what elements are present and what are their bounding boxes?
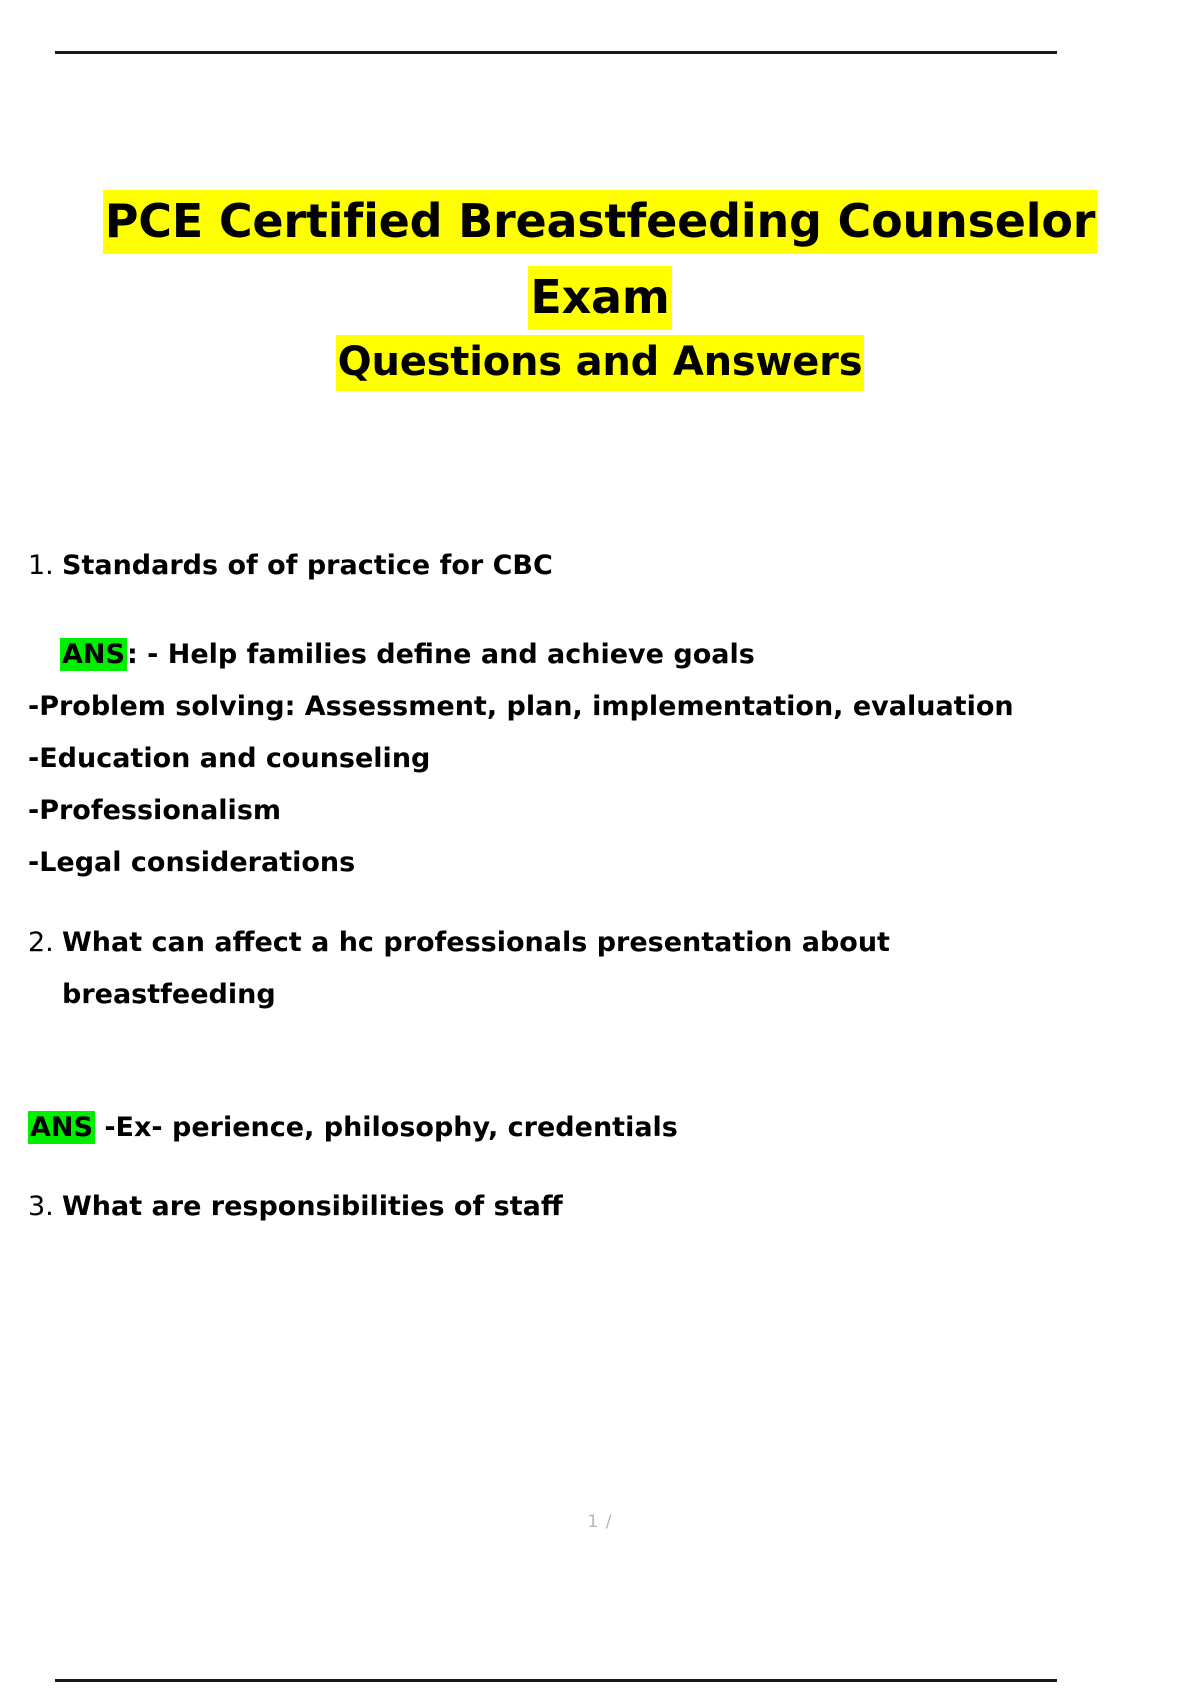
title-line-1-text: PCE Certified Breastfeeding Counselor (103, 190, 1097, 254)
question-3-number: 3. (28, 1193, 62, 1220)
question-2-number: 2. (28, 929, 62, 956)
answer-2-text: -Ex- perience, philosophy, credentials (95, 1112, 678, 1143)
question-2-text-line-1: What can affect a hc professionals prese… (62, 929, 890, 956)
answer-1-label: ANS (60, 638, 127, 671)
bullet-item: -Problem solving: Assessment, plan, impl… (28, 693, 1118, 720)
answer-1-text: : - Help families define and achieve goa… (127, 639, 755, 670)
title-line-1: PCE Certified Breastfeeding Counselor (0, 198, 1200, 244)
title-line-3: Questions and Answers (0, 342, 1200, 382)
question-1-number: 1. (28, 552, 62, 579)
answer-1-bullets: -Problem solving: Assessment, plan, impl… (28, 693, 1118, 876)
question-2: 2. What can affect a hc professionals pr… (28, 929, 1118, 956)
title-line-2-text: Exam (528, 266, 671, 330)
spacer (28, 876, 1118, 929)
question-1-text: Standards of of practice for CBC (62, 552, 553, 579)
answer-1: ANS: - Help families define and achieve … (28, 641, 1118, 668)
document-title-block: PCE Certified Breastfeeding Counselor Ex… (0, 198, 1200, 382)
title-line-2: Exam (0, 274, 1200, 320)
spacer (28, 579, 1118, 641)
footer-rule (55, 1679, 1057, 1682)
bullet-item: -Education and counseling (28, 745, 1118, 772)
answer-2-label: ANS (28, 1111, 95, 1144)
spacer (28, 1008, 1118, 1114)
question-2-text-line-2: breastfeeding (62, 981, 1118, 1008)
spacer (28, 1141, 1118, 1193)
title-line-3-text: Questions and Answers (336, 335, 865, 391)
qa-item-2: 2. What can affect a hc professionals pr… (28, 929, 1118, 1141)
page-number: 1 / (0, 1512, 1200, 1532)
bullet-item: -Professionalism (28, 797, 1118, 824)
bullet-item: -Legal considerations (28, 849, 1118, 876)
header-rule (55, 51, 1057, 54)
document-body: 1. Standards of of practice for CBC ANS:… (28, 552, 1118, 1220)
qa-item-3: 3. What are responsibilities of staff (28, 1193, 1118, 1220)
question-3: 3. What are responsibilities of staff (28, 1193, 1118, 1220)
qa-item-1: 1. Standards of of practice for CBC ANS:… (28, 552, 1118, 876)
answer-2: ANS -Ex- perience, philosophy, credentia… (28, 1114, 1118, 1141)
question-3-text: What are responsibilities of staff (62, 1193, 563, 1220)
document-page: PCE Certified Breastfeeding Counselor Ex… (0, 0, 1200, 1700)
question-1: 1. Standards of of practice for CBC (28, 552, 1118, 579)
